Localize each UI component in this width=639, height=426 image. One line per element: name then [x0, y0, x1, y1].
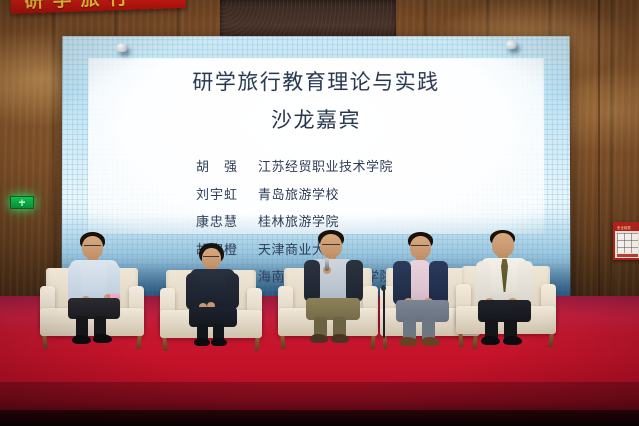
sign-footer-bar [617, 254, 638, 257]
shoe-left [399, 337, 418, 346]
shoe-left [310, 334, 328, 343]
guest-organization: 桂林旅游学院 [258, 211, 339, 230]
guest-row: 胡 强 江苏经贸职业技术学院 [196, 156, 393, 175]
stage-front-face [0, 382, 639, 413]
guest-row: 康忠慧 桂林旅游学院 [196, 211, 393, 230]
arm-right [226, 273, 239, 309]
arm-left [68, 264, 81, 302]
guest-row: 刘宇虹 青岛旅游学校 [196, 184, 393, 203]
glasses [203, 256, 219, 257]
arm-left [186, 273, 200, 310]
stage-floor-shadow [0, 410, 639, 426]
fire-evacuation-map-sign: 安全疏散 [613, 222, 639, 260]
shoe-right [331, 334, 349, 343]
sign-header: 安全疏散 [615, 224, 639, 231]
panelist-1 [60, 232, 132, 342]
wall-seam-far-right [598, 0, 600, 300]
panelist-2 [182, 243, 248, 343]
arm-right [518, 261, 533, 303]
shoe-left [194, 338, 210, 346]
emergency-exit-sign [10, 196, 34, 209]
glasses [411, 245, 429, 246]
jacket-left [304, 260, 320, 302]
guest-name: 胡 强 [196, 156, 258, 175]
sign-map-diagram [617, 233, 638, 253]
exit-icon [19, 199, 25, 206]
shoe-right [503, 336, 522, 345]
shoe-left [72, 335, 91, 344]
shoe-right [211, 338, 227, 346]
chair-leg-left [162, 338, 167, 351]
chair-leg-left [42, 336, 47, 349]
jacket-right [346, 260, 363, 302]
chair-leg-left [280, 336, 285, 349]
microphone-stand-head [381, 285, 386, 291]
slide-subtitle: 沙龙嘉宾 [62, 104, 570, 134]
microphone-stand [383, 290, 385, 338]
sign-header-text: 安全疏散 [617, 225, 631, 230]
panelist-3 [298, 230, 370, 342]
shoe-right [421, 337, 440, 346]
panelist-5 [470, 230, 542, 342]
guest-organization: 青岛旅游学校 [258, 184, 339, 203]
guest-name: 康忠慧 [196, 211, 258, 230]
conference-panel-photo: 研学旅行 安全疏散 研学旅行教育理论与实践 沙龙嘉宾 胡 强 江苏经贸职业技术学… [0, 0, 639, 426]
slide-title: 研学旅行教育理论与实践 [62, 66, 570, 96]
glasses [322, 244, 340, 245]
guest-name: 刘宇虹 [196, 184, 258, 203]
guest-organization: 江苏经贸职业技术学院 [258, 156, 393, 175]
microphone [325, 258, 329, 271]
shoe-left [481, 336, 500, 345]
panelist-4 [388, 232, 460, 344]
shoe-right [93, 334, 112, 343]
glasses [84, 245, 101, 246]
arm-left [476, 261, 490, 303]
